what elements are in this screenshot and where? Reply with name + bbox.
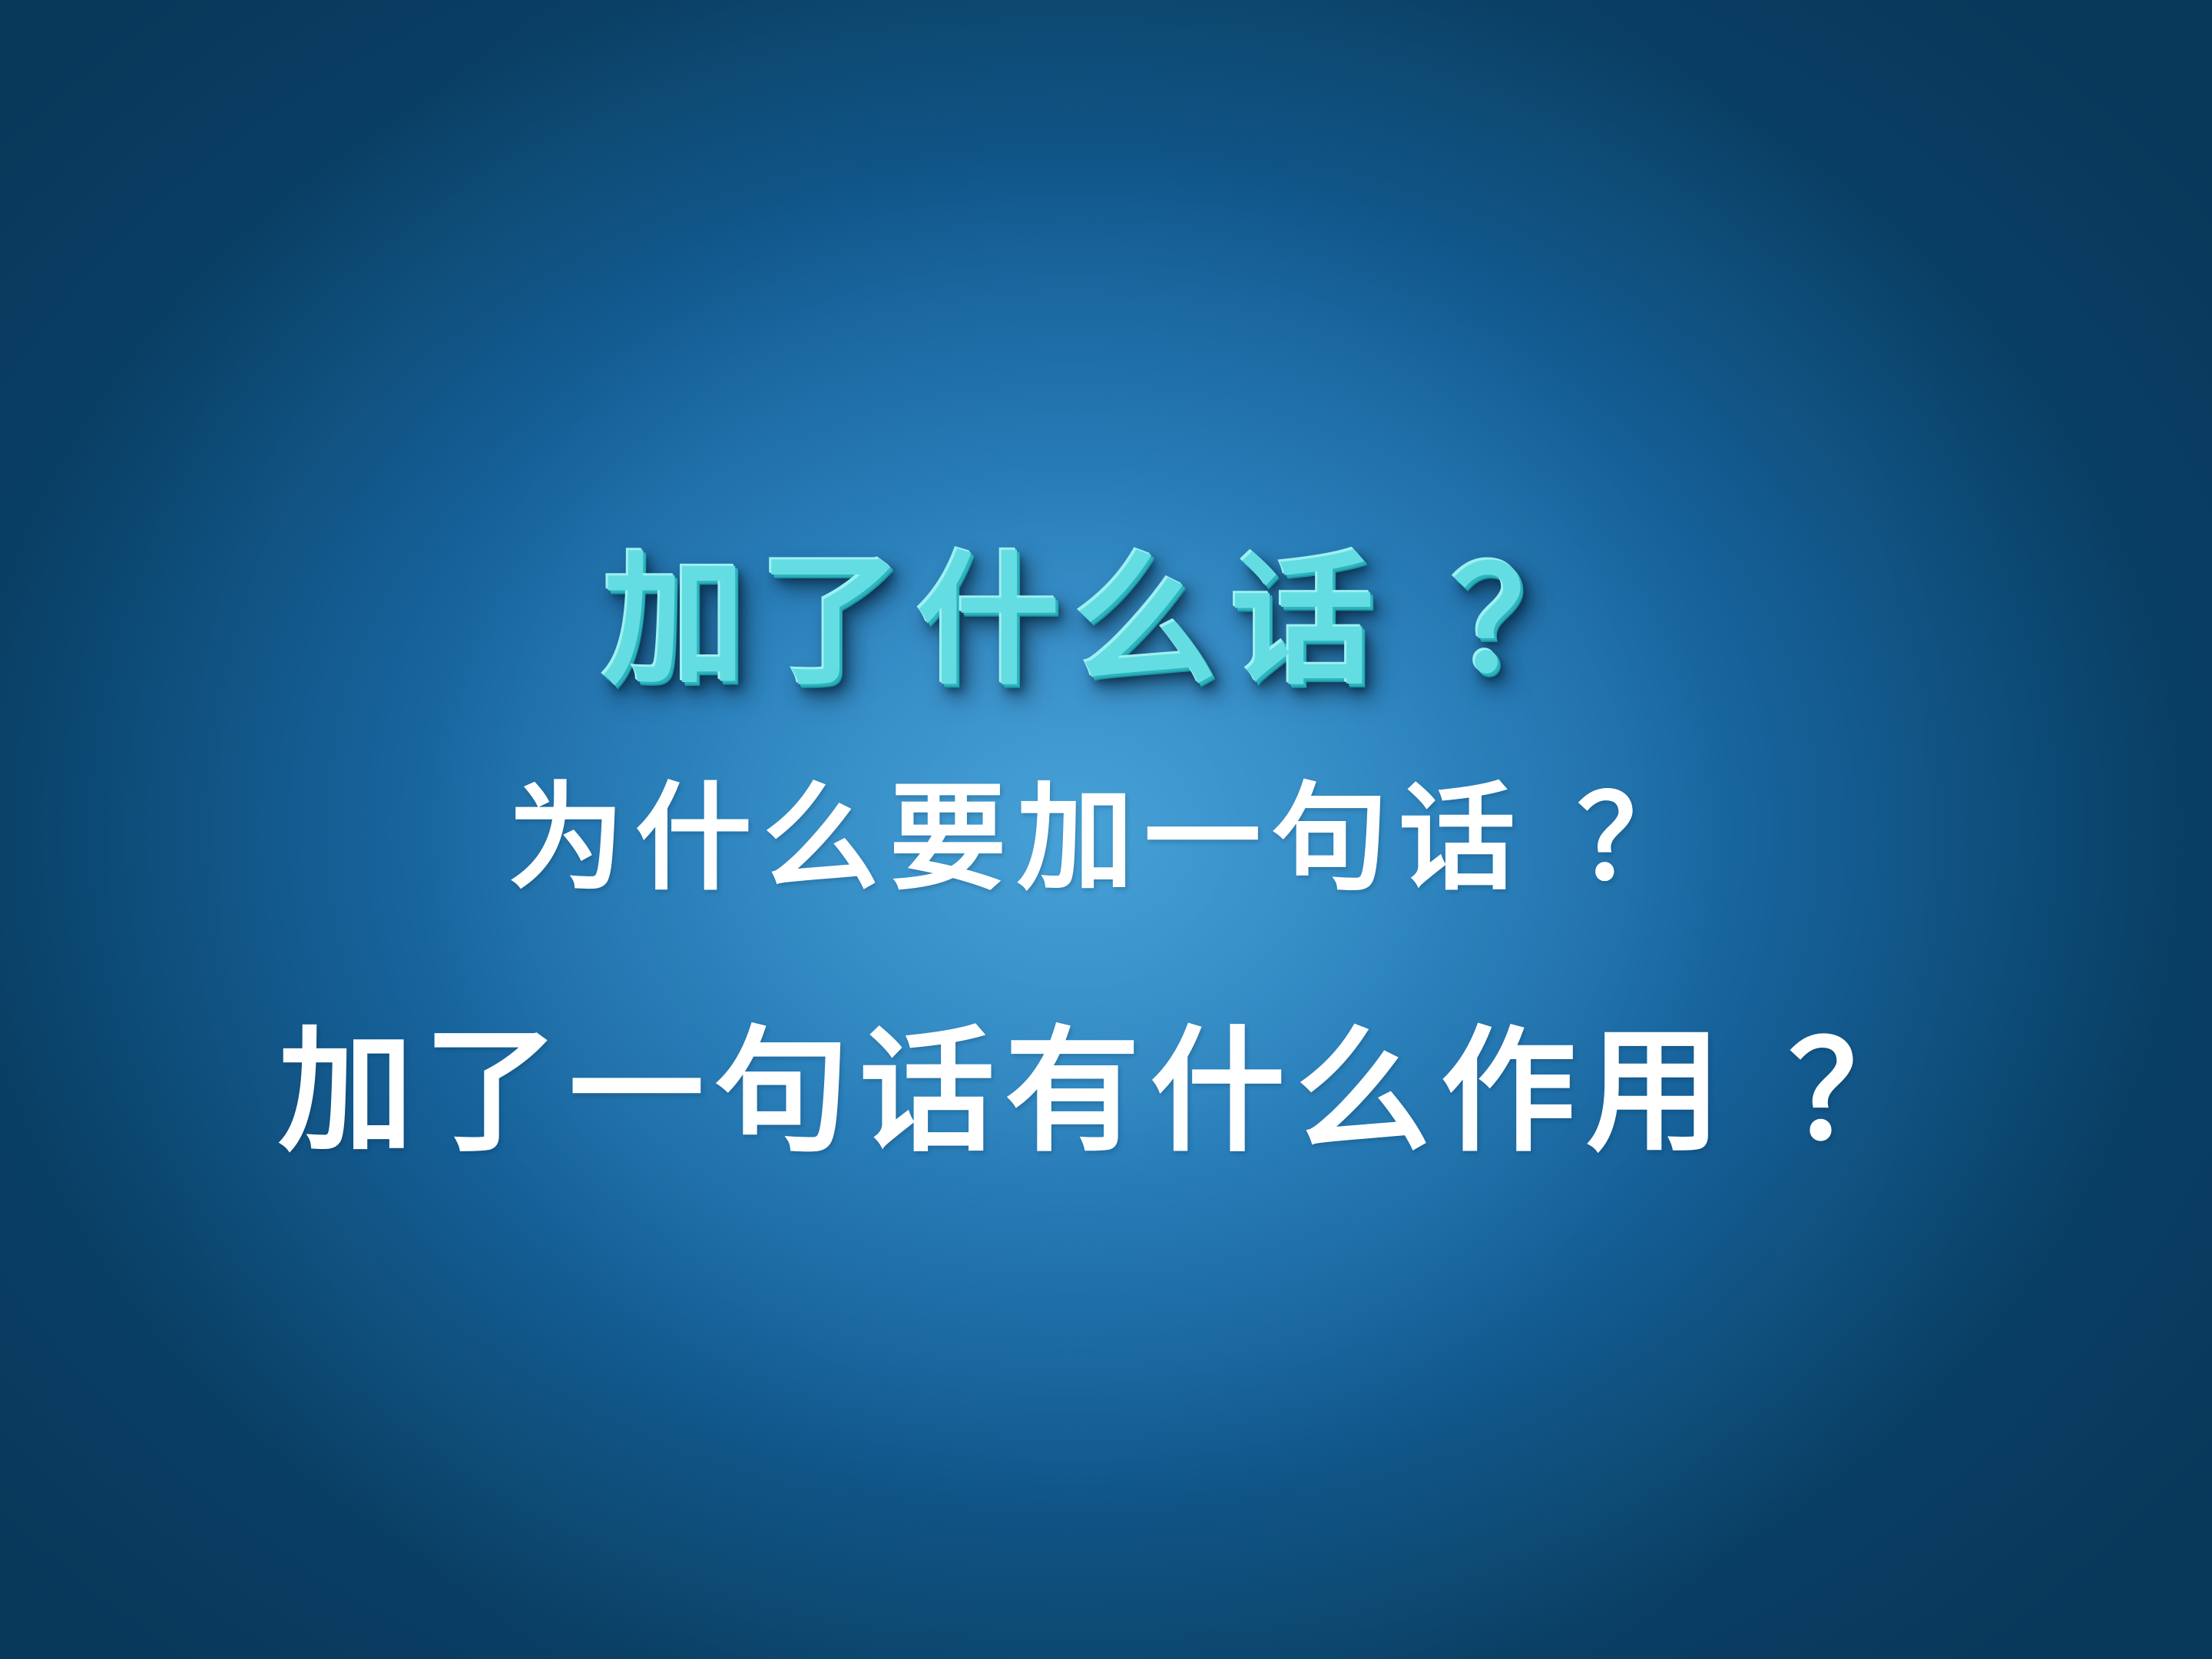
slide-subline-second: 加了一句话有什么作用 ？ — [0, 1025, 2212, 1160]
slide-subline-first: 为什么要加一句话 ？ — [0, 780, 2212, 897]
presentation-slide: 加了什么话 ？ 为什么要加一句话 ？ 加了一句话有什么作用 ？ — [0, 0, 2212, 1659]
slide-headline: 加了什么话 ？ — [0, 550, 2212, 693]
slide-content: 加了什么话 ？ 为什么要加一句话 ？ 加了一句话有什么作用 ？ — [0, 0, 2212, 1659]
